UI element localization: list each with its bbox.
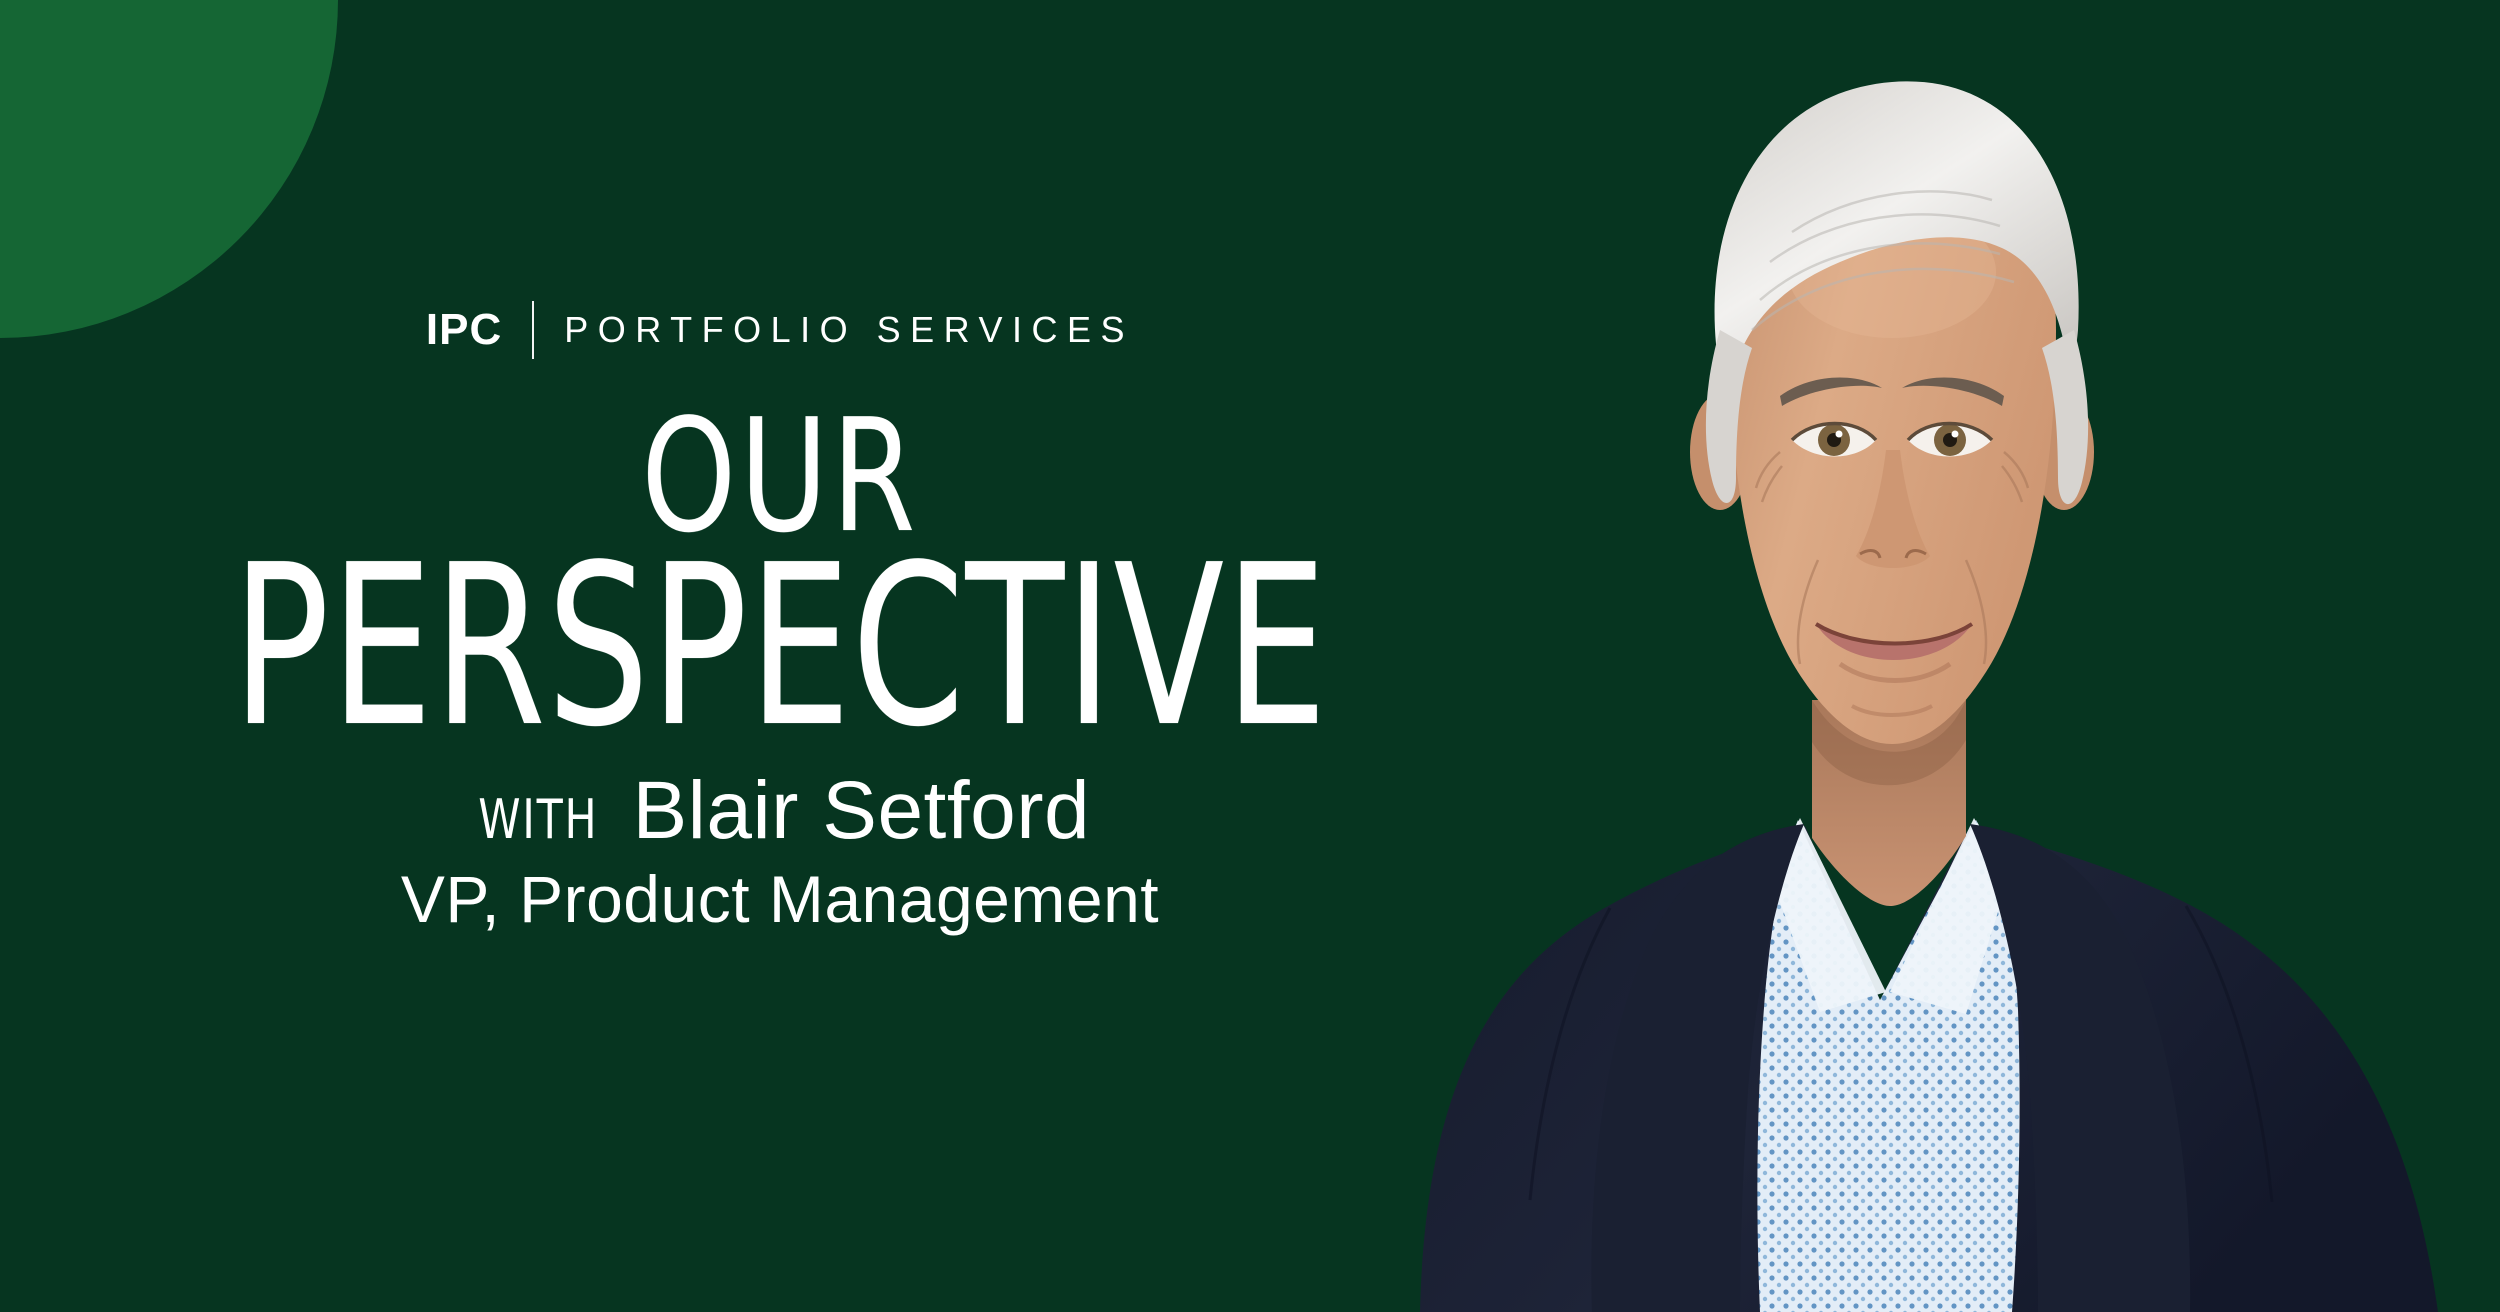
brand-logo-subtitle: PORTFOLIO SERVICES xyxy=(564,312,1134,348)
presenter-with-label: WITH xyxy=(478,793,598,847)
our-perspective-banner: IPC PORTFOLIO SERVICES OUR PERSPECTIVE W… xyxy=(0,0,2500,1312)
presenter-name: Blair Setford xyxy=(632,770,1090,852)
logo-divider xyxy=(532,301,534,359)
portrait-illustration xyxy=(1180,0,2500,1312)
presenter-portrait-photo xyxy=(1180,0,2500,1312)
brand-logo-ipc: IPC xyxy=(426,308,502,352)
